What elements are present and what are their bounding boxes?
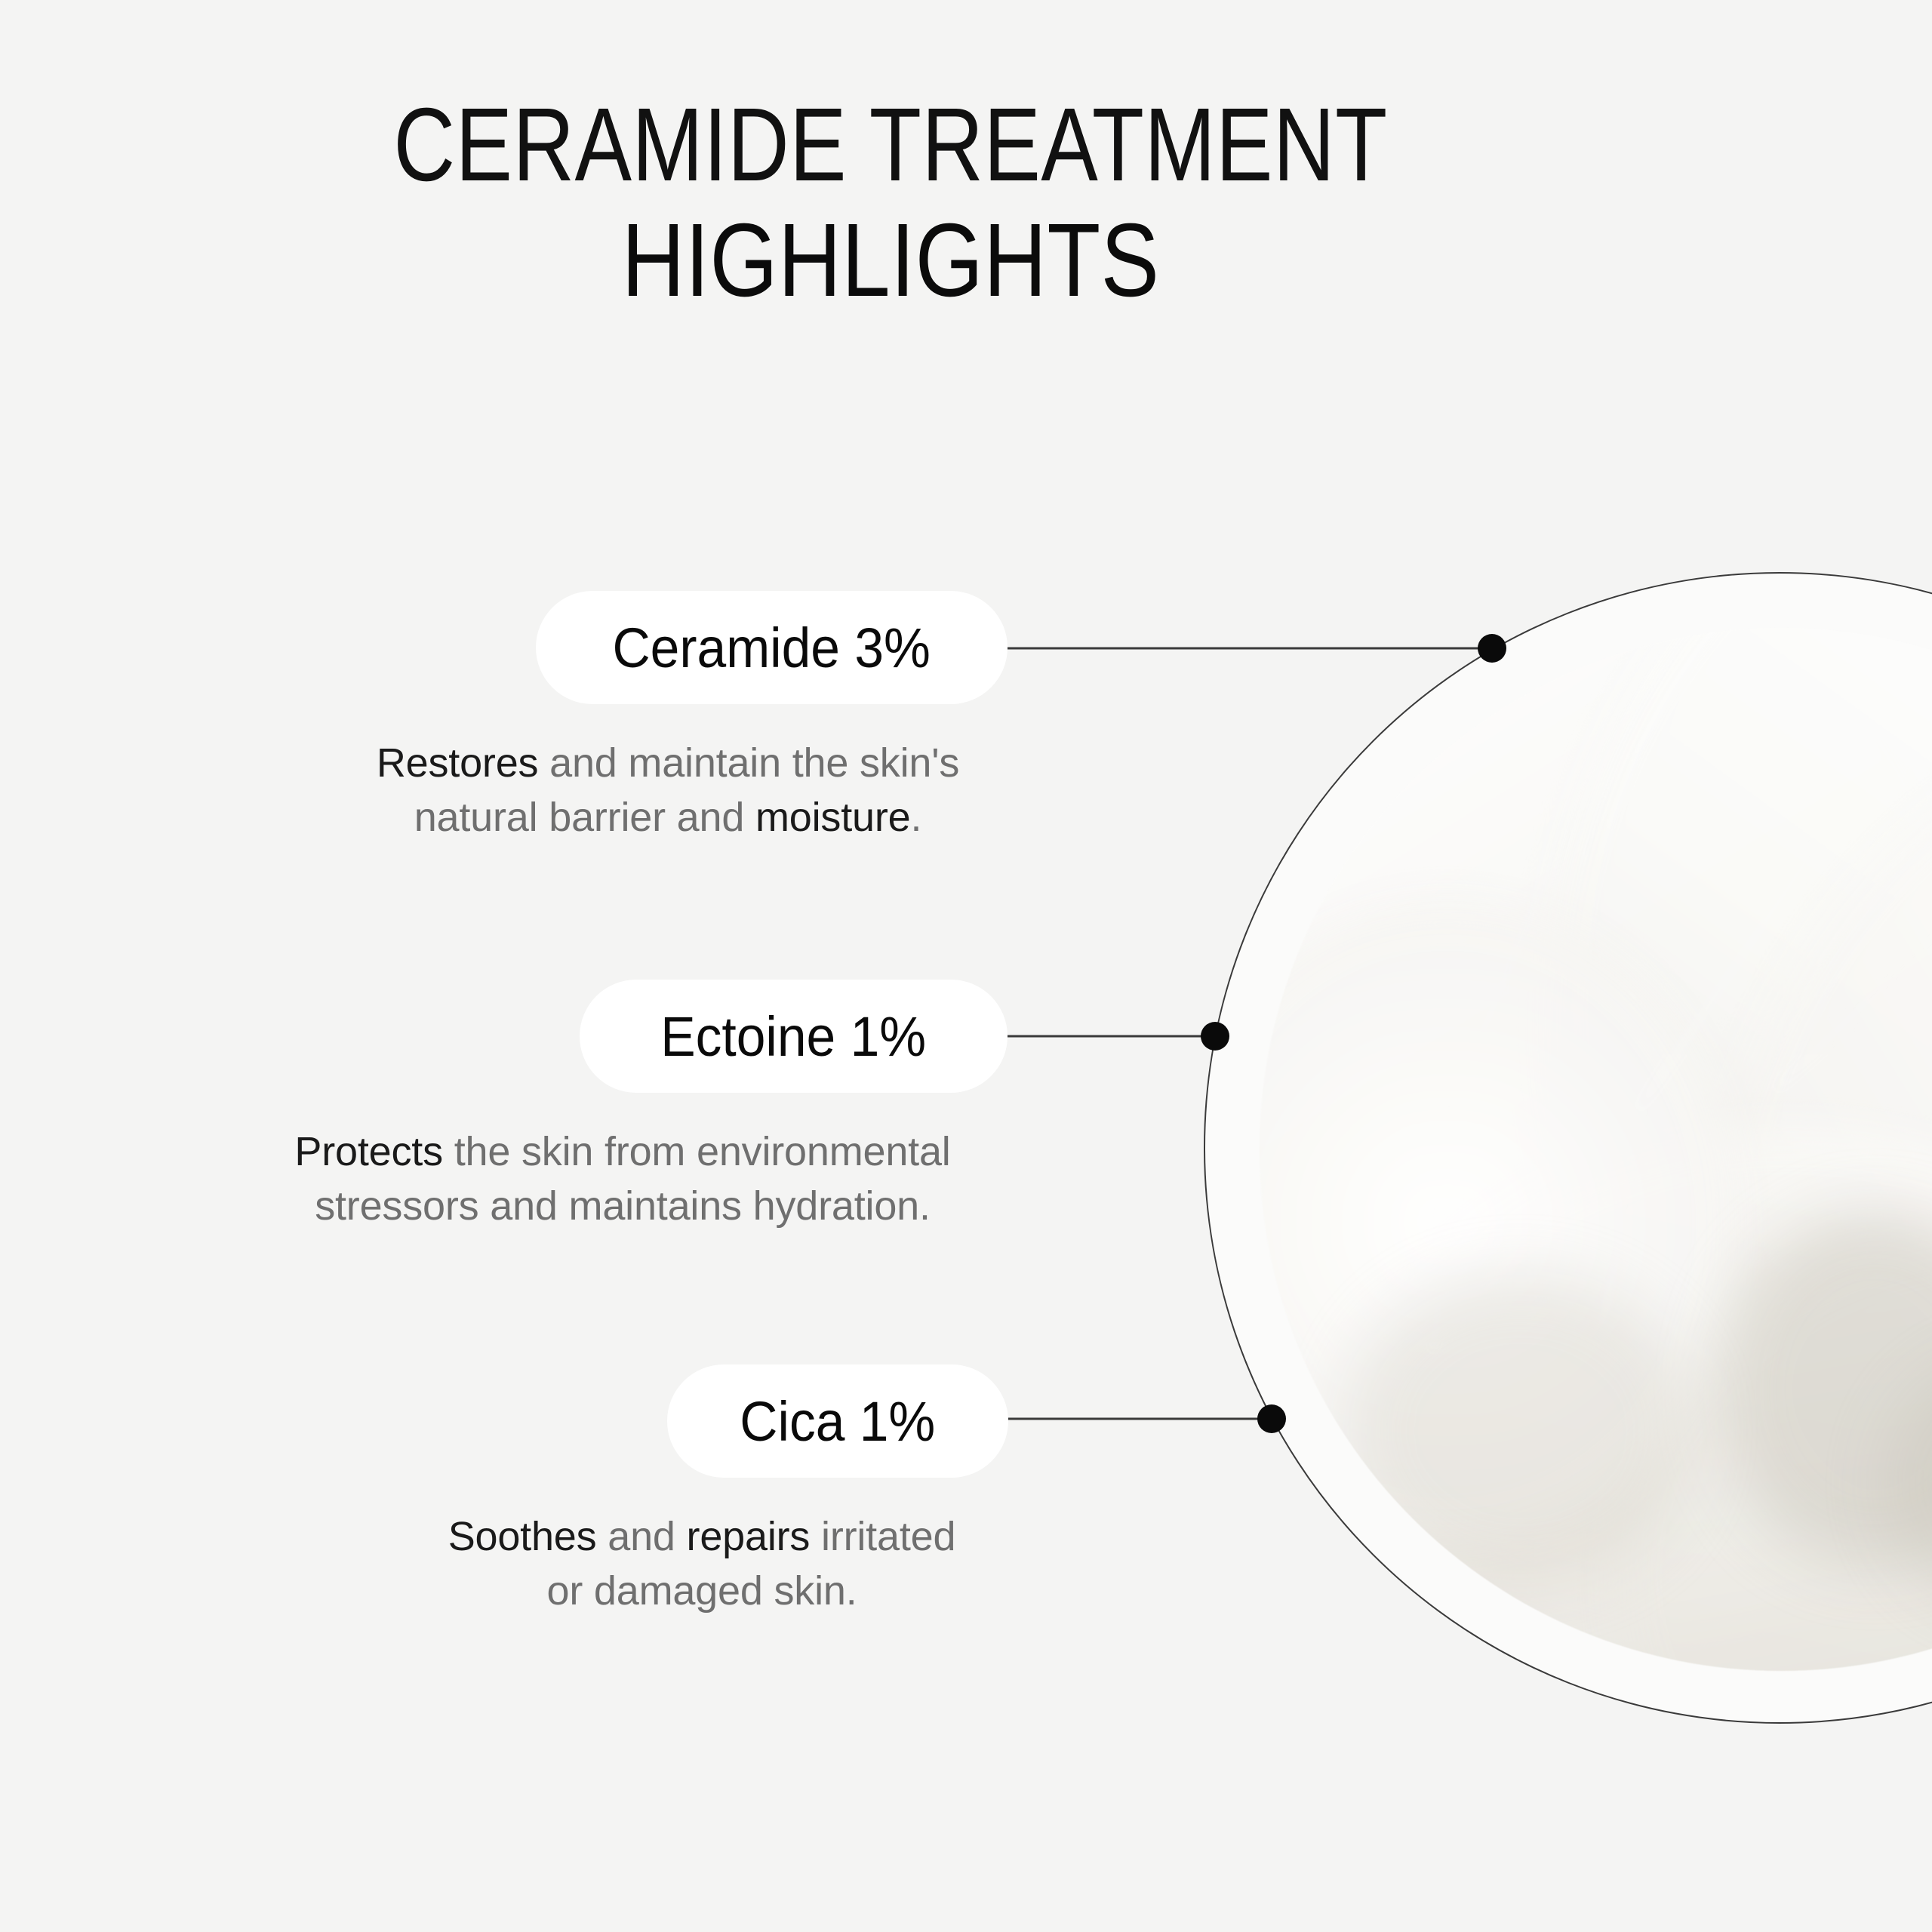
ingredient-pill-label: Cica 1%: [740, 1389, 935, 1454]
title-line-2: HIGHLIGHTS: [143, 205, 1638, 317]
cream-shadow: [1343, 1275, 1698, 1588]
ingredient-pill-ectoine[interactable]: Ectoine 1%: [580, 980, 1008, 1093]
desc-lead: Soothes: [448, 1514, 597, 1559]
desc-tail: .: [910, 795, 921, 840]
cream-texture: [1260, 628, 1932, 1671]
title-line-1: CERAMIDE TREATMENT: [160, 91, 1620, 200]
ingredient-pill-ceramide[interactable]: Ceramide 3%: [536, 591, 1008, 704]
desc-emphasis: moisture: [755, 795, 910, 840]
infographic-stage: CERAMIDE TREATMENT HIGHLIGHTS Ceramide 3…: [0, 0, 1932, 1932]
ingredient-pill-cica[interactable]: Cica 1%: [667, 1364, 1008, 1478]
product-cream-circle-image: [1204, 572, 1932, 1724]
ingredient-description-cica: Soothes and repairs irritated or damaged…: [438, 1509, 966, 1619]
desc-lead: Restores: [377, 740, 538, 786]
ingredient-pill-label: Ceramide 3%: [613, 616, 931, 680]
desc-emphasis: repairs: [687, 1514, 811, 1559]
desc-lead: Protects: [294, 1129, 442, 1174]
desc-middle: and: [596, 1514, 686, 1559]
ingredient-description-ectoine: Protects the skin from environmental str…: [234, 1124, 1011, 1234]
ingredient-description-ceramide: Restores and maintain the skin's natural…: [325, 736, 1011, 845]
page-title: CERAMIDE TREATMENT HIGHLIGHTS: [0, 91, 1781, 317]
ingredient-pill-label: Ectoine 1%: [661, 1004, 927, 1069]
